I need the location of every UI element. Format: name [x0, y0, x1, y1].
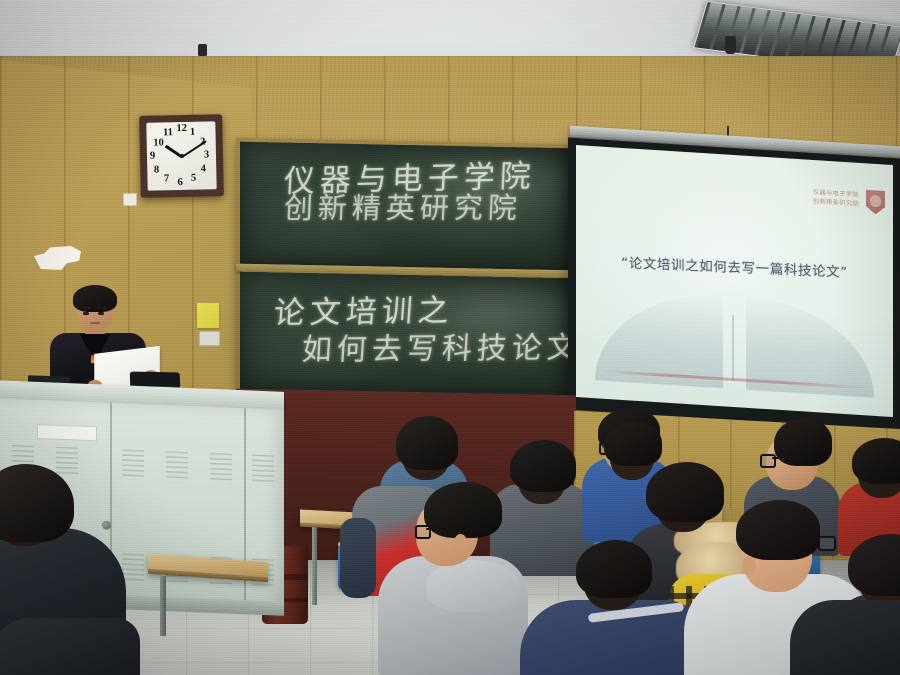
student-ear	[742, 556, 756, 575]
eyeglasses-temple	[426, 528, 452, 530]
student-hair	[396, 416, 458, 470]
student-hood	[426, 560, 520, 612]
clock-numeral: 2	[200, 137, 205, 148]
blackboard-upper-panel: 仪器与电子学院 创新精英研究院	[240, 142, 570, 271]
cabinet-vent	[252, 455, 274, 486]
eyeglasses-temple	[772, 457, 800, 459]
clock-numeral: 1	[190, 127, 195, 138]
clock-numeral: 9	[150, 152, 155, 163]
foreground-shoulder	[0, 618, 140, 675]
screen-surface: 仪器与电子学院 创新精英研究院 “论文培训之如何去写一篇科技论文”	[576, 145, 893, 417]
cabinet-vent	[56, 447, 78, 478]
yellow-sticky-note	[197, 303, 219, 328]
clock-numeral: 4	[201, 164, 206, 175]
cabinet-vent	[210, 453, 232, 484]
wall-clock: 121234567891011	[139, 114, 224, 198]
student-hair	[646, 462, 724, 522]
eyeglasses-icon	[818, 536, 836, 551]
clock-center-pin	[179, 154, 183, 158]
podium-label	[37, 424, 97, 441]
student-arm	[340, 518, 376, 598]
podium-knob-icon[interactable]	[102, 521, 111, 530]
cabinet-vent	[166, 451, 188, 482]
student-hair	[736, 500, 820, 560]
clock-numeral: 10	[153, 138, 164, 149]
desk-leg	[312, 527, 317, 605]
ceiling-fixture-icon	[725, 36, 736, 54]
student-hair	[604, 422, 662, 466]
clock-numeral: 6	[177, 178, 182, 189]
blackboard-lower-panel: 论文培训之 如何去写科技论文	[240, 272, 570, 396]
presenter-eye	[98, 312, 104, 315]
classroom-photo: 121234567891011 仪器与电子学院 创新精英研究院 论文培训之 如何…	[0, 0, 900, 675]
blackboard: 仪器与电子学院 创新精英研究院 论文培训之 如何去写科技论文	[236, 138, 574, 400]
presenter-eye	[83, 312, 89, 315]
clock-face: 121234567891011	[146, 121, 216, 190]
open-book-graphic	[595, 275, 874, 398]
desk-leg	[160, 576, 166, 636]
presenter-mouth	[90, 322, 100, 324]
presenter-hair	[73, 285, 117, 312]
projection-screen: 仪器与电子学院 创新精英研究院 “论文培训之如何去写一篇科技论文”	[568, 138, 900, 431]
podium-door-seam	[244, 408, 246, 613]
cabinet-vent	[122, 449, 144, 480]
student-hair	[576, 540, 652, 598]
clock-numeral: 3	[204, 150, 209, 161]
blackboard-text-line-4: 如何去写科技论文	[301, 323, 570, 369]
cabinet-vent	[122, 553, 144, 584]
student-ear	[454, 534, 467, 551]
clock-numeral: 12	[176, 124, 187, 135]
book-spine	[732, 315, 734, 381]
wall-sub-label	[199, 331, 220, 346]
foreground-shoulder	[790, 600, 900, 675]
clock-numeral: 11	[163, 128, 173, 139]
student-hair	[510, 440, 576, 492]
clock-numeral: 5	[191, 174, 196, 185]
clock-numeral: 8	[154, 165, 159, 176]
blackboard-text-line-2: 创新精英研究院	[283, 185, 523, 227]
wall-label	[123, 193, 137, 206]
slide-header-text: 仪器与电子学院 创新精英研究院	[813, 188, 859, 210]
clock-numeral: 7	[164, 175, 169, 186]
